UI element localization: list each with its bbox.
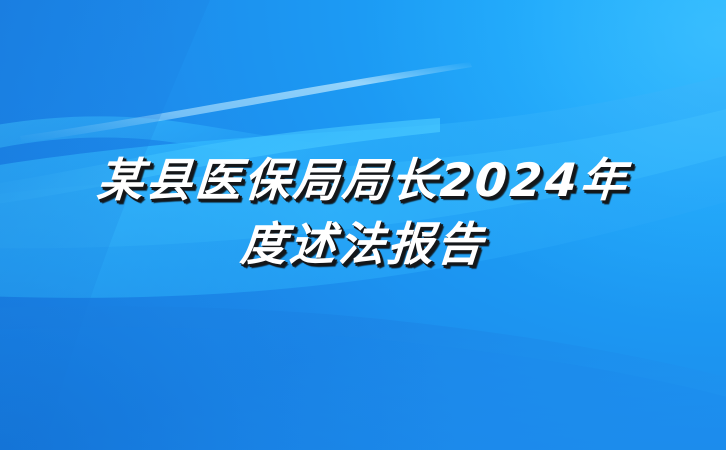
background-shade-bottom-left [0, 0, 726, 450]
banner-canvas: 某县医保局局长2024年 度述法报告 [0, 0, 726, 450]
